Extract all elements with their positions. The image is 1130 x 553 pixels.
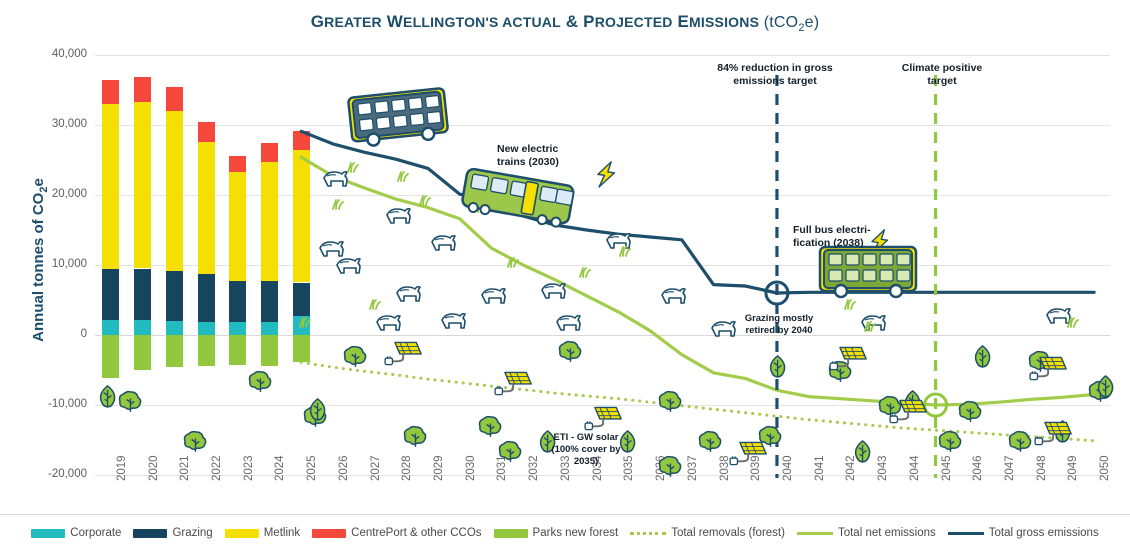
tree-leaf-icon	[311, 399, 325, 420]
anno-trains-line1: New electric	[497, 143, 607, 156]
anno-trains-line2: trains (2030)	[497, 156, 607, 169]
tree-round-icon	[500, 442, 521, 462]
bus-icon	[348, 88, 449, 148]
tree-leaf-icon	[856, 441, 870, 462]
legend-item-centreport-other-ccos[interactable]: CentrePort & other CCOs	[312, 527, 481, 539]
grass-icon	[333, 200, 343, 209]
legend-marker	[31, 529, 65, 538]
solar-icon	[495, 372, 531, 394]
electric-bus-icon	[820, 247, 916, 297]
grass-icon	[370, 300, 380, 309]
tree-leaf-icon	[101, 386, 115, 407]
train-icon	[461, 168, 575, 229]
anno-grazing-line2: retired by 2040	[722, 325, 836, 337]
legend-label: Grazing	[172, 527, 212, 539]
tree-round-icon	[940, 432, 961, 452]
anno-cp-line1: Climate positive	[877, 62, 1007, 75]
legend-marker	[133, 529, 167, 538]
legend: CorporateGrazingMetlinkCentrePort & othe…	[0, 514, 1130, 547]
cow-icon	[377, 316, 400, 330]
anno-solar-line2: (100% cover by	[528, 444, 644, 456]
legend-marker	[948, 532, 984, 535]
annotation-eti-gw-solar: ETI - GW solar (100% cover by 2035)	[528, 432, 644, 468]
legend-marker	[225, 529, 259, 538]
legend-marker	[312, 529, 346, 538]
cow-icon	[607, 234, 630, 248]
tree-round-icon	[345, 347, 366, 367]
solar-icon	[385, 342, 421, 364]
line-total-gross-emissions	[301, 131, 1094, 293]
tree-round-icon	[700, 432, 721, 452]
anno-solar-line1: ETI - GW solar	[528, 432, 644, 444]
grass-icon	[300, 318, 310, 327]
anno-bus-line2: fication (2038)	[793, 237, 893, 250]
annotation-new-electric-trains: New electric trains (2030)	[497, 143, 607, 169]
chart-root: GREATER WELLINGTON'S ACTUAL & PROJECTED …	[0, 0, 1130, 553]
grass-icon	[845, 300, 855, 309]
anno-bus-line1: Full bus electri-	[793, 224, 893, 237]
tree-round-icon	[660, 457, 681, 477]
legend-marker	[630, 532, 666, 535]
cow-icon	[482, 289, 505, 303]
anno-solar-line3: 2035)	[528, 456, 644, 468]
cow-icon	[320, 242, 343, 256]
cow-icon	[387, 209, 410, 223]
legend-item-parks-new-forest[interactable]: Parks new forest	[494, 527, 619, 539]
tree-leaf-icon	[1099, 376, 1113, 397]
cow-icon	[1047, 309, 1070, 323]
legend-item-grazing[interactable]: Grazing	[133, 527, 212, 539]
tree-round-icon	[560, 342, 581, 362]
anno-grazing-line1: Grazing mostly	[722, 313, 836, 325]
annotation-full-bus-electrification: Full bus electri- fication (2038)	[793, 224, 893, 250]
legend-item-total-removals-forest-[interactable]: Total removals (forest)	[630, 527, 785, 539]
cow-icon	[397, 287, 420, 301]
legend-item-total-net-emissions[interactable]: Total net emissions	[797, 527, 936, 539]
legend-label: Total gross emissions	[989, 527, 1099, 539]
tree-round-icon	[880, 397, 901, 417]
legend-marker	[494, 529, 528, 538]
line-total-net-emissions	[301, 157, 1094, 405]
legend-label: Corporate	[70, 527, 121, 539]
cow-icon	[432, 236, 455, 250]
grass-icon	[580, 268, 590, 277]
legend-item-total-gross-emissions[interactable]: Total gross emissions	[948, 527, 1099, 539]
annotation-84-reduction: 84% reduction in gross emissions target	[690, 62, 860, 88]
legend-item-metlink[interactable]: Metlink	[225, 527, 300, 539]
anno-84-line1: 84% reduction in gross	[690, 62, 860, 75]
tree-round-icon	[405, 427, 426, 447]
grass-icon	[348, 163, 358, 172]
solar-icon	[585, 407, 621, 429]
cow-icon	[542, 284, 565, 298]
legend-item-corporate[interactable]: Corporate	[31, 527, 121, 539]
legend-label: Total net emissions	[838, 527, 936, 539]
tree-round-icon	[480, 417, 501, 437]
cow-icon	[557, 316, 580, 330]
grass-icon	[398, 172, 408, 181]
cow-icon	[337, 259, 360, 273]
anno-cp-line2: target	[877, 75, 1007, 88]
tree-round-icon	[660, 392, 681, 412]
annotation-climate-positive: Climate positive target	[877, 62, 1007, 88]
solar-icon	[730, 442, 766, 464]
tree-leaf-icon	[771, 356, 785, 377]
tree-round-icon	[960, 402, 981, 422]
tree-round-icon	[120, 392, 141, 412]
tree-leaf-icon	[976, 346, 990, 367]
anno-84-line2: emissions target	[690, 75, 860, 88]
legend-label: Total removals (forest)	[671, 527, 785, 539]
tree-round-icon	[185, 432, 206, 452]
legend-marker	[797, 532, 833, 535]
tree-round-icon	[250, 372, 271, 392]
legend-label: CentrePort & other CCOs	[351, 527, 481, 539]
legend-label: Parks new forest	[533, 527, 619, 539]
legend-label: Metlink	[264, 527, 300, 539]
tree-round-icon	[1010, 432, 1031, 452]
cow-icon	[324, 172, 347, 186]
cow-icon	[442, 314, 465, 328]
cow-icon	[662, 289, 685, 303]
grass-icon	[420, 196, 430, 205]
annotation-grazing-retired: Grazing mostly retired by 2040	[722, 313, 836, 337]
